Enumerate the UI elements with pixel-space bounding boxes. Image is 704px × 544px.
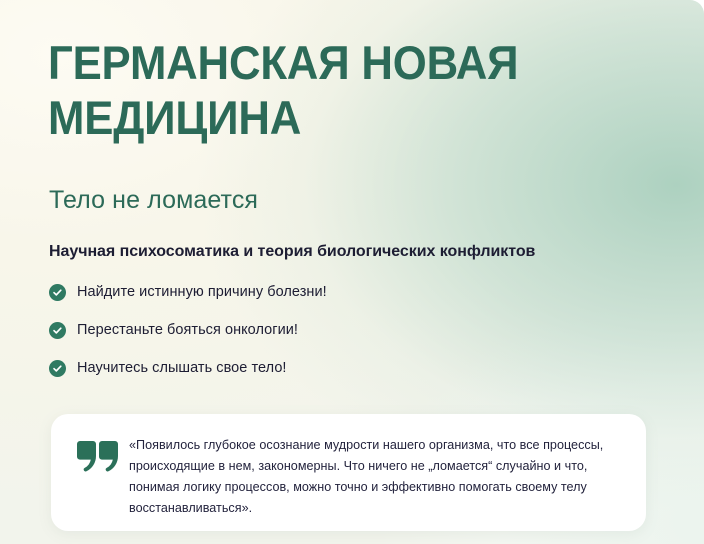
check-circle-icon <box>49 322 66 339</box>
list-item-label: Найдите истинную причину болезни! <box>77 284 327 300</box>
tagline: Научная психосоматика и теория биологиче… <box>49 243 535 261</box>
subtitle: Тело не ломается <box>49 186 258 215</box>
list-item: Найдите истинную причину болезни! <box>49 282 327 302</box>
list-item: Перестаньте бояться онкологии! <box>49 320 327 340</box>
list-item-label: Перестаньте бояться онкологии! <box>77 322 298 338</box>
testimonial-text: «Появилось глубокое осознание мудрости н… <box>129 434 624 520</box>
list-item: Научитесь слышать свое тело! <box>49 358 327 378</box>
benefit-list: Найдите истинную причину болезни! Перест… <box>49 282 327 396</box>
slide-canvas: ГЕРМАНСКАЯ НОВАЯ МЕДИЦИНА Тело не ломает… <box>0 0 704 544</box>
testimonial-card: «Появилось глубокое осознание мудрости н… <box>51 414 646 531</box>
check-circle-icon <box>49 284 66 301</box>
page-title: ГЕРМАНСКАЯ НОВАЯ МЕДИЦИНА <box>48 36 606 145</box>
list-item-label: Научитесь слышать свое тело! <box>77 360 287 376</box>
quotation-mark-icon <box>77 434 129 473</box>
check-circle-icon <box>49 360 66 377</box>
